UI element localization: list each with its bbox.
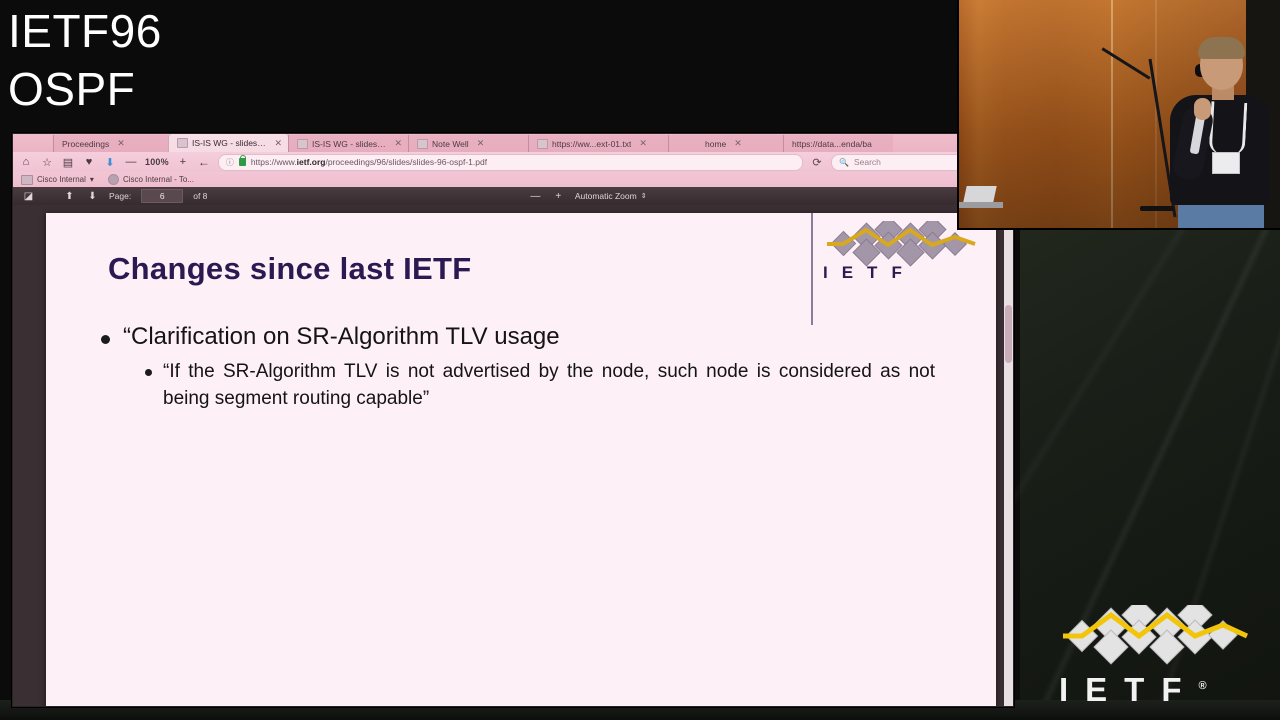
- slide-body: “Clarification on SR-Algorithm TLV usage…: [46, 287, 996, 412]
- tab-isis-wg-1[interactable]: IS-IS WG - slides-9... ✕: [168, 134, 288, 152]
- tab-label: home: [705, 139, 726, 149]
- speaker-person: [1152, 40, 1272, 230]
- scrollbar-thumb[interactable]: [1005, 305, 1012, 363]
- laptop-lid: [963, 186, 996, 202]
- bullet-level1: “Clarification on SR-Algorithm TLV usage: [101, 322, 996, 352]
- tab-ext-txt[interactable]: https://ww...ext-01.txt ✕: [528, 135, 668, 152]
- tab-strip: Proceedings ✕ IS-IS WG - slides-9... ✕ I…: [13, 134, 1013, 152]
- pdf-zoom-in-button[interactable]: +: [552, 190, 565, 203]
- page-number-input[interactable]: 6: [141, 189, 183, 203]
- title-divider: [811, 213, 813, 325]
- pdf-page: Changes since last IETF: [46, 213, 996, 706]
- slide-header: Changes since last IETF: [46, 213, 996, 287]
- page-total-label: of 8: [193, 191, 207, 201]
- speaker-badge: [1212, 152, 1240, 174]
- pdf-zoom-mode-select[interactable]: Automatic Zoom ⇕: [575, 191, 647, 201]
- bookmark-label: Cisco Internal - To...: [123, 175, 194, 184]
- ietf-logo-wordmark: IETF: [823, 263, 916, 283]
- laptop-base: [959, 202, 1003, 208]
- bookmarks-toolbar: Cisco Internal ▾ Cisco Internal - To...: [13, 172, 1013, 187]
- tab-label: https://data...enda/ba: [792, 139, 872, 149]
- ietf-logo-slide: IETF: [821, 221, 981, 301]
- tab-label: IS-IS WG - slides-9...: [312, 139, 386, 149]
- back-button[interactable]: ←: [197, 155, 211, 169]
- url-text: https://www.ietf.org/proceedings/96/slid…: [251, 157, 487, 167]
- page-info-icon[interactable]: ⓘ: [226, 157, 234, 168]
- search-icon: 🔍: [839, 158, 849, 167]
- bullet-dot-icon: [145, 369, 152, 376]
- star-icon[interactable]: ☆: [40, 155, 54, 169]
- tab-home[interactable]: home ✕: [668, 135, 783, 152]
- tab-favicon: [297, 139, 308, 149]
- tab-close-icon[interactable]: ✕: [117, 138, 125, 149]
- search-placeholder: Search: [854, 157, 881, 167]
- reload-button[interactable]: ⟳: [810, 155, 824, 169]
- folder-icon: [21, 175, 33, 185]
- tab-isis-wg-2[interactable]: IS-IS WG - slides-9... ✕: [288, 135, 408, 152]
- pocket-icon[interactable]: ♥: [82, 155, 96, 169]
- ietf-logo-large: IETF®: [1055, 605, 1255, 710]
- laptop-on-table: [959, 186, 1003, 214]
- tab-close-icon[interactable]: ✕: [639, 138, 647, 149]
- pdf-viewer-toolbar: ◪ ⬆ ⬇ Page: 6 of 8 — + Automatic Zoom ⇕ …: [13, 187, 1013, 205]
- navigation-toolbar: ⌂ ☆ ▤ ♥ ⬇ — 100% + ← ⓘ https://www.ietf.…: [13, 152, 1013, 172]
- speaker-lanyard: [1209, 101, 1248, 155]
- bullet-text: “If the SR-Algorithm TLV is not advertis…: [163, 358, 935, 412]
- tab-favicon: [537, 139, 548, 149]
- speaker-hand: [1194, 98, 1211, 120]
- viewer-scrollbar[interactable]: [1004, 205, 1013, 706]
- zoom-in-button[interactable]: +: [176, 155, 190, 169]
- pdf-viewer-canvas[interactable]: Changes since last IETF: [13, 205, 1013, 706]
- bullet-level2: “If the SR-Algorithm TLV is not advertis…: [145, 358, 935, 412]
- tab-close-icon[interactable]: ✕: [734, 138, 742, 149]
- tab-label: IS-IS WG - slides-9...: [192, 138, 266, 148]
- bullet-dot-icon: [101, 335, 110, 344]
- bookmark-label: Cisco Internal: [37, 175, 86, 184]
- ietf-logo-wordmark: IETF®: [1059, 667, 1255, 709]
- talk-title-line1: IETF96: [8, 2, 308, 60]
- registered-mark: ®: [1199, 680, 1207, 692]
- zoom-out-button[interactable]: —: [124, 155, 138, 169]
- ietf-diamond-mark-icon: [1055, 605, 1255, 665]
- bullet-text: “Clarification on SR-Algorithm TLV usage: [123, 322, 560, 352]
- tab-favicon: [177, 138, 188, 148]
- tab-proceedings[interactable]: Proceedings ✕: [53, 135, 168, 152]
- tab-label: https://ww...ext-01.txt: [552, 139, 631, 149]
- chevron-down-icon[interactable]: ▾: [90, 175, 94, 184]
- tab-close-icon[interactable]: ✕: [274, 138, 282, 149]
- bookmark-cisco-internal[interactable]: Cisco Internal ▾: [21, 175, 94, 185]
- speaker-video-feed: [957, 0, 1280, 230]
- arrow-up-icon[interactable]: ⬆: [63, 190, 76, 203]
- home-icon[interactable]: ⌂: [19, 155, 33, 169]
- screen-capture: IETF® Proceedings ✕ IS-IS WG - slides-9.…: [0, 0, 1280, 720]
- pdf-zoom-mode-label: Automatic Zoom: [575, 191, 637, 201]
- tab-label: Note Well: [432, 139, 469, 149]
- tab-favicon: [417, 139, 428, 149]
- tab-label: Proceedings: [62, 139, 109, 149]
- chevron-updown-icon: ⇕: [641, 192, 647, 200]
- tab-datatracker-agenda[interactable]: https://data...enda/ba: [783, 135, 893, 152]
- arrow-down-icon[interactable]: ⬇: [86, 190, 99, 203]
- tab-close-icon[interactable]: ✕: [394, 138, 402, 149]
- download-icon[interactable]: ⬇: [103, 155, 117, 169]
- globe-icon: [108, 174, 119, 185]
- lock-icon: [239, 158, 246, 166]
- address-bar[interactable]: ⓘ https://www.ietf.org/proceedings/96/sl…: [218, 154, 803, 171]
- zoom-level-label: 100%: [145, 157, 169, 167]
- tab-close-icon[interactable]: ✕: [477, 138, 485, 149]
- page-label: Page:: [109, 191, 131, 201]
- tab-note-well[interactable]: Note Well ✕: [408, 135, 528, 152]
- bookmark-cisco-internal-tools[interactable]: Cisco Internal - To...: [108, 174, 194, 185]
- talk-title-overlay: IETF96 OSPF: [8, 2, 308, 118]
- pdf-zoom-out-button[interactable]: —: [529, 190, 542, 203]
- sidebar-toggle-icon[interactable]: ◪: [22, 190, 35, 203]
- reader-mode-icon[interactable]: ▤: [61, 155, 75, 169]
- browser-window: Proceedings ✕ IS-IS WG - slides-9... ✕ I…: [12, 133, 1014, 707]
- speaker-hair: [1198, 37, 1245, 59]
- talk-title-line2: OSPF: [8, 60, 308, 118]
